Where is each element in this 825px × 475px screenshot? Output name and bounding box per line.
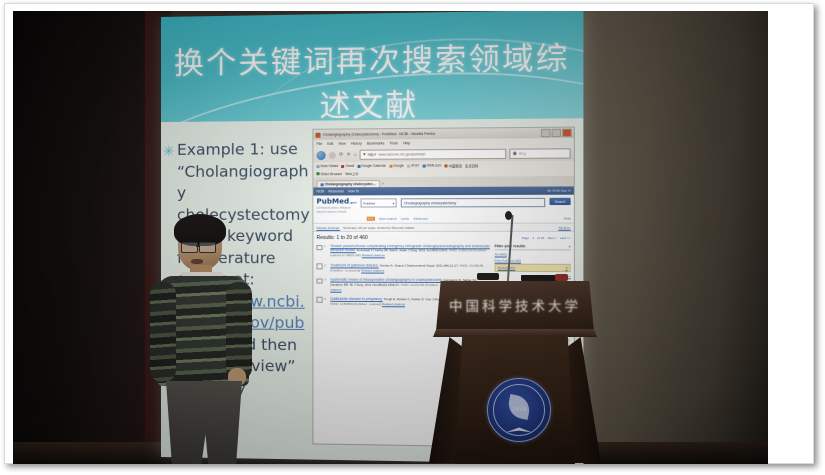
rss-icon[interactable]: RSS xyxy=(367,217,375,221)
menu-history[interactable]: History xyxy=(351,142,362,146)
bookmark-web[interactable]: Web上の xyxy=(345,171,358,176)
seal-year: 1958 xyxy=(488,406,550,413)
reload-icon[interactable]: ⟳ xyxy=(339,152,343,157)
database-value: PubMed xyxy=(363,201,375,205)
tab-label: Cholangiography cholecystec... xyxy=(325,182,376,186)
bookmark-cn-life[interactable]: 生活百科 xyxy=(465,163,478,168)
result-title[interactable]: Gallbladder disease in pregnancy. xyxy=(330,297,382,301)
bookmark-cn-news[interactable]: 中国新闻 xyxy=(444,163,461,168)
display-settings-value: Summary, 20 per page, Sorted by Recently… xyxy=(343,225,414,229)
advanced-link[interactable]: Advanced xyxy=(413,217,427,221)
back-button-icon[interactable] xyxy=(316,150,325,159)
lectern-university-name: 中国科学技术大学 xyxy=(436,295,594,315)
glasses-bridge xyxy=(196,246,199,247)
result-related-link[interactable]: Related citations xyxy=(382,302,405,306)
pager-last[interactable]: Last >> xyxy=(560,236,571,240)
browser-titlebar: Cholangiography cholecystectomy - PubMed… xyxy=(313,128,573,140)
chevron-down-icon: ▾ xyxy=(393,201,395,205)
minimize-button[interactable] xyxy=(541,129,551,137)
filter-review-badge: 0 xyxy=(566,266,568,270)
presenter-trousers xyxy=(166,381,242,464)
menu-bookmarks[interactable]: Bookmarks xyxy=(367,141,384,145)
bookmark-att[interactable]: AT&T xyxy=(407,164,419,168)
pubmed-tagline-1: US National Library of Medicine xyxy=(316,207,356,210)
result-authors: Tough E, Decker C, Kettler D. xyxy=(384,297,425,301)
result-number: 4 xyxy=(324,297,328,307)
glasses-right-lens-icon xyxy=(199,242,216,253)
menu-tools[interactable]: Tools xyxy=(390,141,398,145)
menu-edit[interactable]: Edit xyxy=(327,142,333,146)
search-placeholder: Bing xyxy=(519,152,526,156)
bullet-line-2: “Cholangiograph xyxy=(177,162,309,181)
result-number: 3 xyxy=(324,278,328,292)
result-item: 1 Tension pneumothorax complicating emer… xyxy=(316,244,490,258)
lectern-top: 中国科学技术大学 xyxy=(436,281,594,331)
ncbi-nav-resources[interactable]: Resources xyxy=(328,189,344,193)
result-pmid: PMID: 21453592 [PubMed - indexed] xyxy=(330,302,381,306)
pager: Page 1 of 23 Next > Last >> xyxy=(522,236,571,240)
result-number: 2 xyxy=(324,263,328,273)
result-authors: Al-Ashaal YI, Hefny AF, Safi A. xyxy=(357,248,399,252)
result-journal: Scand J Gastroenterol Suppl. 2011;(46):1… xyxy=(395,263,459,267)
presenter-mouth xyxy=(191,259,203,264)
filter-review[interactable]: Review (40) 0 xyxy=(495,264,571,272)
tab-favicon-icon xyxy=(321,183,324,186)
pager-next[interactable]: Next > xyxy=(548,236,557,240)
wall-left xyxy=(13,11,163,464)
filter-heading: Filter your results: ▴ xyxy=(495,244,571,250)
close-button[interactable] xyxy=(562,129,572,137)
bullet-marker-icon: ✳ xyxy=(163,142,175,164)
pubmed-tagline-2: National Institutes of Health xyxy=(316,211,356,214)
save-search-link[interactable]: Save search xyxy=(379,217,397,221)
lectern-device xyxy=(477,273,499,280)
presenter-arm-left xyxy=(150,282,176,382)
bullet-line-3: y xyxy=(177,184,186,202)
home-icon[interactable]: ⌂ xyxy=(354,152,357,157)
microphone-icon xyxy=(505,211,512,220)
browser-search-bar[interactable]: ◉ Bing xyxy=(509,148,570,159)
university-seal-icon: 1958 xyxy=(487,378,551,442)
url-text: www.ncbi.nlm.nih.gov/pubmed/ xyxy=(378,152,425,156)
results-count: Results: 1 to 20 of 460 xyxy=(316,235,367,241)
maximize-button[interactable] xyxy=(552,129,562,137)
bookmark-google-calendar[interactable]: Google Calendar xyxy=(357,164,386,168)
result-checkbox[interactable] xyxy=(316,297,322,303)
pubmed-search-input[interactable]: Cholangiography cholecystectomy xyxy=(401,198,545,208)
lectern: 中国科学技术大学 1958 xyxy=(425,281,605,464)
result-checkbox[interactable] xyxy=(316,245,322,251)
pager-page-label: Page xyxy=(522,236,529,240)
browser-navbar: ⟳ ✕ ⌂ ▾ http:// www.ncbi.nlm.nih.gov/pub… xyxy=(313,146,573,162)
result-related-link[interactable]: Related citations xyxy=(362,253,385,257)
lecture-photo: 换个关键词再次搜索领域综述文献 ✳ Example 1: use “Cholan… xyxy=(13,11,768,464)
lectern-top-edge xyxy=(433,329,597,337)
screenshot-page: 换个关键词再次搜索领域综述文献 ✳ Example 1: use “Cholan… xyxy=(0,0,825,475)
window-controls xyxy=(541,129,572,137)
collapse-icon[interactable]: ▴ xyxy=(569,244,571,248)
filter-free-full-text[interactable]: Free Full Text (62) xyxy=(495,258,571,262)
bookmark-google[interactable]: Google xyxy=(389,164,404,168)
presenter-arm-right xyxy=(226,282,252,380)
result-number: 1 xyxy=(324,244,328,258)
bullet-line-1: Example 1: use xyxy=(177,140,298,159)
display-settings-bar: Display Settings: Summary, 20 per page, … xyxy=(313,223,573,232)
menu-file[interactable]: File xyxy=(316,142,322,146)
pubmed-query-text: Cholangiography cholecystectomy xyxy=(404,201,456,205)
bookmark-msn[interactable]: MSN.com xyxy=(423,163,442,167)
display-settings-link[interactable]: Display Settings: xyxy=(316,225,340,229)
result-journal: Br J Surg. 2011 Oct;98(10):1356-67. xyxy=(350,283,400,287)
ncbi-nav-howto[interactable]: How To xyxy=(348,189,359,193)
bookmark-gmail[interactable]: Gmail xyxy=(341,164,354,168)
result-checkbox[interactable] xyxy=(316,278,322,284)
bookmark-most-visited[interactable]: Most Visited xyxy=(316,164,338,168)
result-related-link[interactable]: Related citations xyxy=(361,268,384,272)
browser-window-title: Cholangiography cholecystectomy - PubMed… xyxy=(323,132,436,137)
result-journal: Asian J Surg. 2011 Jul;34(3):133-6. xyxy=(399,248,448,252)
ncbi-signin-link[interactable]: My NCBI Sign In xyxy=(547,189,571,193)
result-title[interactable]: Treatment of gallstone disease. xyxy=(330,263,378,267)
result-checkbox[interactable] xyxy=(316,264,322,270)
pubmed-logo-block[interactable]: PubMed.gov US National Library of Medici… xyxy=(316,198,356,213)
address-bar[interactable]: ▾ http:// www.ncbi.nlm.nih.gov/pubmed/ xyxy=(360,149,506,160)
presenter xyxy=(150,218,254,464)
limits-link[interactable]: Limits xyxy=(401,217,409,221)
photo-frame: 换个关键词再次搜索领域综述文献 ✳ Example 1: use “Cholan… xyxy=(4,3,814,464)
slide-title-banner: 换个关键词再次搜索领域综述文献 xyxy=(161,11,583,122)
menu-view[interactable]: View xyxy=(338,142,345,146)
results-row: Results: 1 to 20 of 460 Page 1 of 23 Nex… xyxy=(313,232,573,244)
search-engine-icon[interactable]: ◉ xyxy=(513,151,518,156)
slide-title: 换个关键词再次搜索领域综述文献 xyxy=(161,33,583,122)
lectern-indicator-light xyxy=(555,274,568,281)
database-select[interactable]: PubMed ▾ xyxy=(361,198,397,207)
pubmed-search-header: PubMed.gov US National Library of Medici… xyxy=(313,195,573,217)
pubmed-logo: PubMed.gov xyxy=(316,198,356,205)
firefox-favicon-icon xyxy=(315,132,320,137)
glasses-left-lens-icon xyxy=(181,242,198,253)
ncbi-brand[interactable]: NCBI xyxy=(316,189,324,193)
bookmark-share-browser[interactable]: Share Browser xyxy=(316,172,342,176)
help-link[interactable]: Help xyxy=(564,216,571,220)
forward-button-icon[interactable] xyxy=(329,151,336,158)
pubmed-search-button[interactable]: Search xyxy=(549,198,570,205)
pager-page-input[interactable]: 1 xyxy=(532,236,534,240)
url-scheme: http:// xyxy=(368,153,377,157)
result-authors: Norden A. xyxy=(380,263,394,267)
site-identity-icon: ▾ xyxy=(363,152,366,157)
send-to-link[interactable]: Send to: xyxy=(558,225,570,229)
pager-of: of 23 xyxy=(537,236,544,240)
stop-icon[interactable]: ✕ xyxy=(346,152,350,157)
filter-all[interactable]: All (460) xyxy=(495,252,571,256)
menu-help[interactable]: Help xyxy=(403,141,410,145)
result-item: 2 Treatment of gallstone disease. Norden… xyxy=(316,263,490,273)
